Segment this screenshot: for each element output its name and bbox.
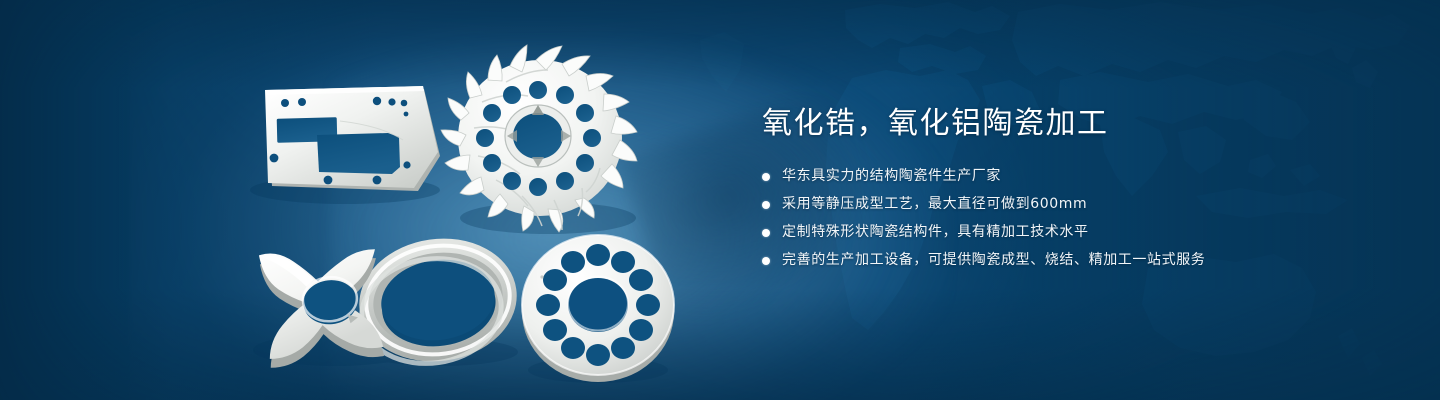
bullet-dot-icon (762, 229, 770, 237)
bullet-dot-icon (762, 257, 770, 265)
feature-list: 华东具实力的结构陶瓷件生产厂家 采用等静压成型工艺，最大直径可做到600mm 定… (762, 166, 1382, 271)
list-item-label: 采用等静压成型工艺，最大直径可做到600mm (782, 194, 1087, 215)
list-item-label: 完善的生产加工设备，可提供陶瓷成型、烧结、精加工一站式服务 (782, 250, 1205, 271)
list-item-label: 华东具实力的结构陶瓷件生产厂家 (782, 166, 1001, 187)
ceramic-machined-plate (265, 86, 440, 191)
list-item: 定制特殊形状陶瓷结构件，具有精加工技术水平 (762, 222, 1382, 243)
list-item: 完善的生产加工设备，可提供陶瓷成型、烧结、精加工一站式服务 (762, 250, 1382, 271)
banner-copy: 氧化锆，氧化铝陶瓷加工 华东具实力的结构陶瓷件生产厂家 采用等静压成型工艺，最大… (762, 104, 1382, 278)
bullet-dot-icon (762, 173, 770, 181)
ceramic-vaned-impeller (441, 45, 637, 232)
list-item: 采用等静压成型工艺，最大直径可做到600mm (762, 194, 1382, 215)
page-title: 氧化锆，氧化铝陶瓷加工 (762, 104, 1382, 144)
list-item-label: 定制特殊形状陶瓷结构件，具有精加工技术水平 (782, 222, 1089, 243)
list-item: 华东具实力的结构陶瓷件生产厂家 (762, 166, 1382, 187)
bullet-dot-icon (762, 201, 770, 209)
promo-banner: 氧化锆，氧化铝陶瓷加工 华东具实力的结构陶瓷件生产厂家 采用等静压成型工艺，最大… (0, 0, 1440, 400)
ceramic-perforated-disc (522, 235, 674, 382)
product-photo-collage (0, 0, 760, 400)
